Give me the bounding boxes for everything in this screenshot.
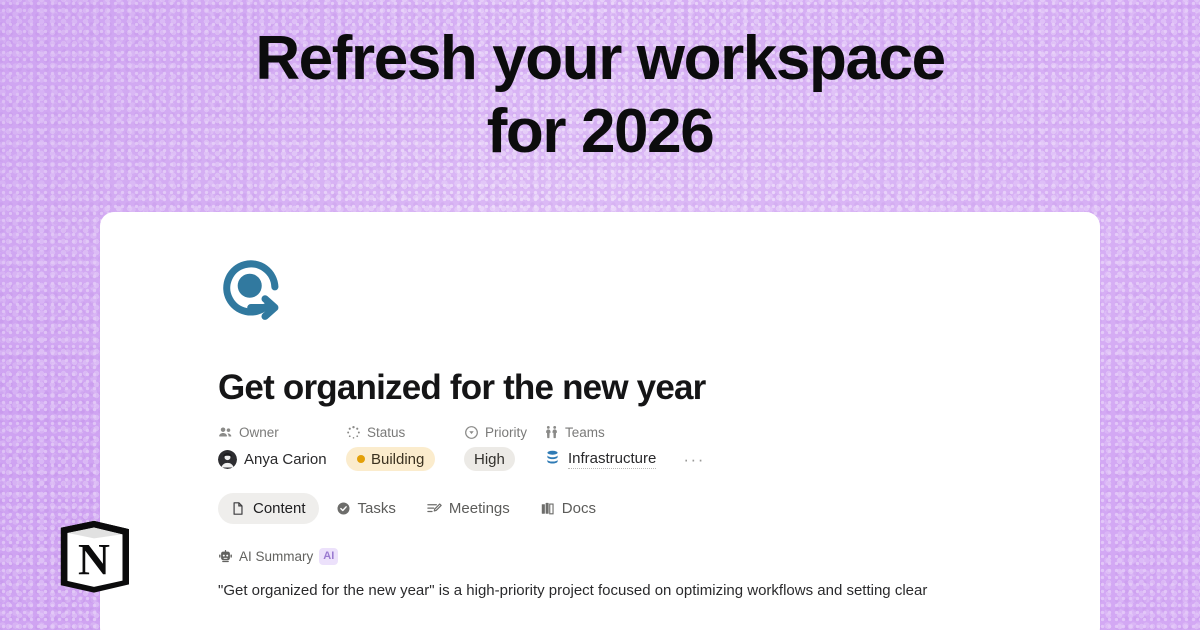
property-label-priority: Priority (464, 425, 544, 440)
property-label-text: Status (367, 425, 405, 440)
properties-grid: Owner Status (218, 425, 718, 471)
property-value-owner[interactable]: Anya Carion (218, 450, 346, 469)
property-label-text: Priority (485, 425, 527, 440)
tab-label: Tasks (358, 500, 396, 517)
property-label-owner: Owner (218, 425, 346, 440)
property-label-status: Status (346, 425, 464, 440)
property-value-teams[interactable]: Infrastructure ··· (544, 449, 718, 470)
circular-arrow-target-icon (218, 254, 1100, 324)
tab-meetings[interactable]: Meetings (413, 493, 523, 524)
loading-circle-icon (346, 425, 361, 440)
status-badge[interactable]: Building (346, 447, 435, 471)
ai-summary-text: "Get organized for the new year" is a hi… (218, 579, 948, 602)
property-value-status[interactable]: Building (346, 447, 464, 471)
property-value-priority[interactable]: High (464, 447, 544, 471)
two-people-icon (544, 425, 559, 440)
property-label-teams: Teams (544, 425, 718, 440)
svg-text:N: N (78, 535, 110, 584)
avatar (218, 450, 237, 469)
ai-summary-header: AI Summary AI (218, 548, 1100, 565)
tab-label: Content (253, 500, 306, 517)
tab-content[interactable]: Content (218, 493, 319, 524)
card-tabs: Content Tasks Meetings (218, 493, 1100, 524)
people-icon (218, 425, 233, 440)
tab-tasks[interactable]: Tasks (323, 493, 409, 524)
more-properties-button[interactable]: ··· (683, 451, 704, 468)
status-dot-icon (357, 455, 365, 463)
team-name[interactable]: Infrastructure (568, 450, 656, 469)
tab-label: Meetings (449, 500, 510, 517)
headline-line-2: for 2026 (0, 95, 1200, 168)
headline-line-1: Refresh your workspace (0, 22, 1200, 95)
books-icon (540, 501, 555, 516)
property-label-text: Teams (565, 425, 605, 440)
notion-cube-logo: N (48, 508, 140, 600)
document-icon (231, 501, 246, 516)
owner-name: Anya Carion (244, 451, 327, 468)
check-circle-icon (336, 501, 351, 516)
tab-label: Docs (562, 500, 596, 517)
app-preview-card: Get organized for the new year Owner (100, 212, 1100, 630)
property-label-text: Owner (239, 425, 279, 440)
circle-caret-icon (464, 425, 479, 440)
database-stack-icon (544, 449, 561, 470)
ai-summary-label: AI Summary (239, 549, 313, 564)
robot-icon (218, 549, 233, 564)
ai-badge: AI (319, 548, 338, 565)
page-headline: Refresh your workspace for 2026 (0, 22, 1200, 168)
notes-pencil-icon (426, 501, 442, 516)
priority-badge[interactable]: High (464, 447, 515, 471)
tab-docs[interactable]: Docs (527, 493, 609, 524)
status-text: Building (371, 452, 424, 467)
page-title: Get organized for the new year (218, 368, 1100, 408)
